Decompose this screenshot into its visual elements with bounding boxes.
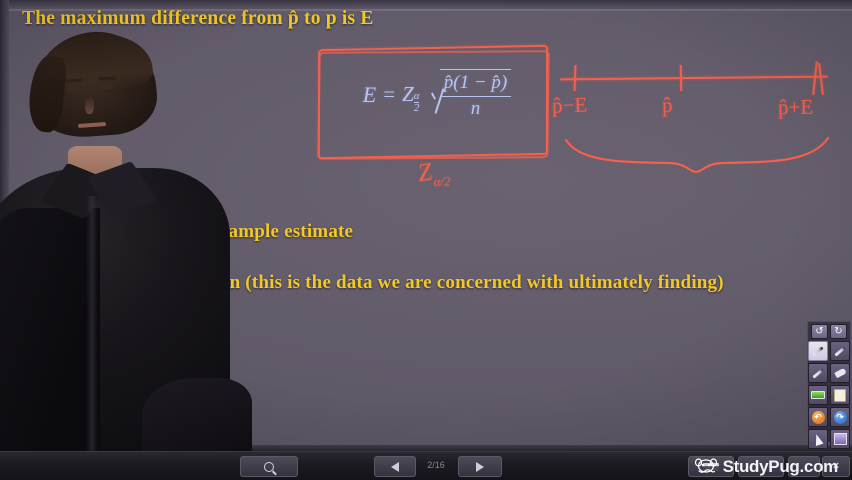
handwritten-z-alpha-scribble: Zα/2	[416, 156, 451, 188]
prev-slide-button[interactable]	[374, 456, 416, 477]
instructor-shoulder	[0, 208, 100, 470]
instructor-nose	[85, 96, 94, 114]
toolbar-row-1	[808, 341, 850, 361]
pug-face-icon	[694, 458, 718, 476]
annotation-toolbar[interactable]: ↺ ↻ ↶ ↷	[807, 321, 851, 443]
triangle-left-icon	[391, 462, 399, 472]
undo-circle-icon[interactable]: ↶	[808, 407, 828, 427]
formula-lhs: E	[363, 82, 376, 108]
redo-small-icon[interactable]: ↻	[830, 324, 847, 339]
search-button[interactable]	[240, 456, 298, 477]
cursor-arrow-icon[interactable]	[808, 429, 828, 449]
number-line-label-upper-bound: p̂+E	[778, 95, 814, 121]
redo-circle-icon[interactable]: ↷	[830, 407, 850, 427]
watermark-text: StudyPug.com	[723, 457, 838, 477]
formula-radical: p̂(1 − p̂) n	[428, 69, 511, 120]
next-slide-button[interactable]	[458, 456, 502, 477]
number-line-tick-center	[680, 65, 682, 91]
toolbar-row-5	[808, 429, 850, 449]
formula-z-term: Z α 2	[402, 82, 414, 107]
interval-brace	[560, 132, 840, 174]
highlighter-icon[interactable]	[808, 385, 828, 405]
studypug-watermark: StudyPug.com	[694, 457, 838, 477]
number-line-label-lower-bound: p̂−E	[552, 92, 588, 118]
scribble-z: Z	[416, 158, 434, 187]
formula-fraction: p̂(1 − p̂) n	[440, 69, 511, 120]
triangle-right-icon	[476, 462, 484, 472]
magnifier-icon	[264, 462, 274, 472]
toolbar-row-2	[808, 363, 850, 383]
page-indicator: 2/16	[414, 460, 458, 470]
pen-icon[interactable]	[808, 341, 828, 361]
formula-equals: =	[383, 82, 395, 107]
formula-annotation-group: E = Z α 2 p̂(1 − p̂) n	[318, 47, 548, 157]
toolbar-row-4: ↶ ↷	[808, 407, 850, 427]
number-line-tick-right-2	[818, 63, 824, 95]
instructor-video-overlay	[0, 18, 240, 452]
undo-small-icon[interactable]: ↺	[811, 324, 828, 339]
toolbar-row-0: ↺ ↻	[808, 324, 850, 339]
formula-z-symbol: Z	[402, 82, 414, 106]
instructor-shirt-placket	[86, 196, 98, 458]
eraser-icon[interactable]	[830, 363, 850, 383]
formula-two: 2	[414, 102, 420, 114]
fraction-denominator: n	[440, 96, 511, 120]
video-lecture-screenshot: The maximum difference from p̂ to p is E…	[0, 0, 852, 480]
marker-icon[interactable]	[830, 341, 850, 361]
window-icon[interactable]	[830, 429, 850, 449]
margin-of-error-formula: E = Z α 2 p̂(1 − p̂) n	[336, 69, 538, 120]
number-line-tick-right	[812, 61, 818, 95]
formula-z-subscript: α 2	[414, 91, 420, 114]
page-icon[interactable]	[830, 385, 850, 405]
toolbar-row-3	[808, 385, 850, 405]
number-line-axis	[560, 76, 828, 81]
fraction-numerator: p̂(1 − p̂)	[440, 71, 511, 96]
number-line-label-point-estimate: p̂	[662, 93, 673, 118]
pencil-icon[interactable]	[808, 363, 828, 383]
radical-sign-icon	[428, 69, 440, 120]
formula-alpha: α	[414, 91, 420, 102]
scribble-subscript: α/2	[433, 173, 451, 190]
